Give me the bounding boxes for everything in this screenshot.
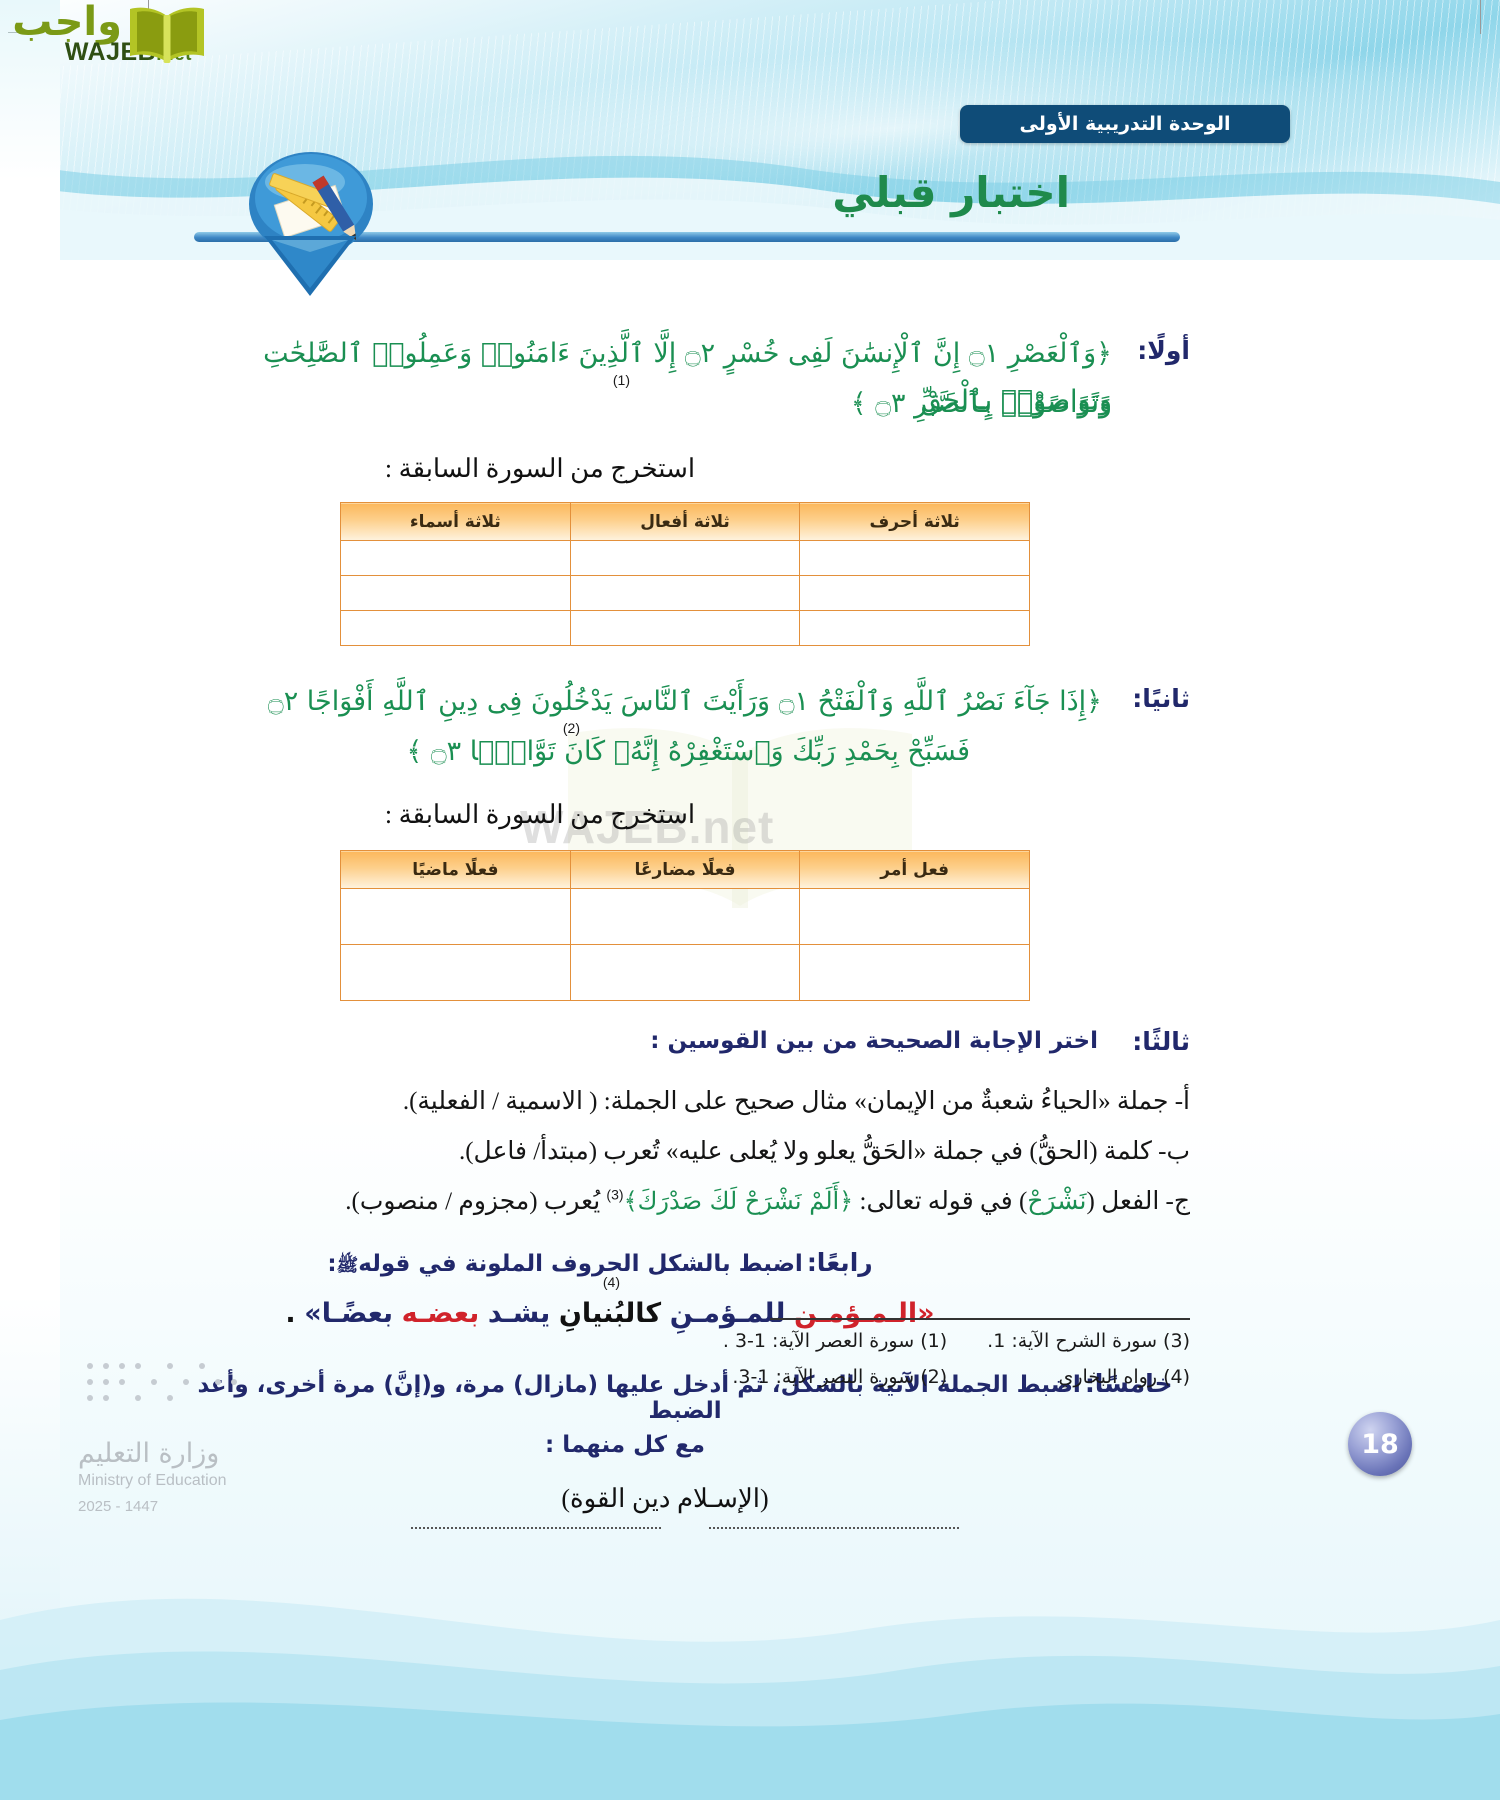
footnote-column-left: (3) سورة الشرح الآية: 1. (4) رواه البخار… [987,1330,1190,1388]
hadith-part-6: بعضًـا» [304,1298,393,1329]
crop-mark-right [1480,0,1481,34]
section-third-label: ثالثًا: [1132,1027,1190,1056]
table-row[interactable] [341,945,1030,1001]
table-cell[interactable] [570,945,800,1001]
footnote-item: (3) سورة الشرح الآية: 1. [987,1330,1190,1352]
mcq-text-a: الفعل ( [1087,1188,1160,1215]
page-root: WAJEB.net واجب WAJEB.net الوحدة التدريبي… [0,0,1500,1800]
footnote-item: (1) سورة العصر الآية: 1-3 . [723,1330,947,1352]
mcq-quran-verse: ﴿أَلَمْ نَشْرَحْ لَكَ صَدْرَكَ﴾ [624,1187,854,1215]
table-header-cell: فعلًا مضارعًا [570,851,800,889]
mcq-text: جملة «الحياءُ شعبةٌ من الإيمان» مثال صحي… [403,1088,1169,1115]
ministry-dot-pattern-icon [84,1358,254,1418]
table-cell[interactable] [341,889,571,945]
section-fourth-heading: رابعًا: اضبط بالشكل الحروف الملونة في قو… [180,1248,1190,1284]
ministry-year: 2025 - 1447 [78,1498,158,1515]
table-cell[interactable] [341,611,571,646]
answer-blank-right[interactable] [411,1527,661,1529]
mcq-footnote-ref: (3) [606,1186,623,1202]
section-second: ثانيًا: ﴿إِذَا جَآءَ نَصْرُ ٱللَّهِ وَٱل… [180,678,1190,798]
footnote-divider [770,1318,1190,1320]
mcq-text-c: يُعرب (مجزوم / منصوب). [345,1188,600,1215]
table-row[interactable] [341,541,1030,576]
section-second-instruction: استخرج من السورة السابقة : [180,800,1190,830]
answer-blank-left[interactable] [709,1527,959,1529]
section-second-verse-line2: فَسَبِّحْ بِحَمْدِ رَبِّكَ وَٱسْتَغْفِرْ… [406,728,970,775]
section-fourth-label: رابعًا: [807,1248,873,1277]
table-row[interactable] [341,576,1030,611]
table-cell[interactable] [341,541,571,576]
page-number: 18 [1348,1412,1412,1476]
mcq-text: كلمة (الحقُّ) في جملة «الحَقُّ يعلو ولا … [459,1138,1152,1165]
page-title: اختبار قبلي [832,168,1070,217]
ministry-name-english: Ministry of Education [78,1472,227,1490]
mcq-item-c: ج- الفعل (نَشْرَحْ) في قوله تعالى: ﴿أَلَ… [180,1185,1190,1219]
mcq-marker: ب- [1158,1138,1190,1165]
section-second-verse-line1: ﴿إِذَا جَآءَ نَصْرُ ٱللَّهِ وَٱلْفَتْحُ … [180,678,1102,725]
section-first-verse-line2: وَتَوَاصَوْا۟ بِٱلصَّبْرِ ۝٣ ﴾ [851,380,1112,427]
mcq-marker: أ- [1175,1088,1190,1115]
honorific-glyph: ﷺ [337,1255,359,1276]
section-fifth: خامسًا: اضبط الجملة الآتية بالشكل، ثم أد… [180,1369,1190,1536]
table-nouns-verbs-letters: ثلاثة أحرف ثلاثة أفعال ثلاثة أسماء [340,502,1030,646]
table-row[interactable] [341,611,1030,646]
table-cell[interactable] [570,611,800,646]
hadith-part-7: . [285,1298,295,1329]
footnote-column-right: (1) سورة العصر الآية: 1-3 . (2) سورة الن… [723,1330,947,1388]
table-row[interactable] [341,889,1030,945]
mcq-text-b: ) في قوله تعالى: [860,1188,1028,1215]
ministry-name-arabic: وزارة التعليم [78,1438,219,1469]
section-first-footnote-ref: (1) [613,372,630,388]
triangle-pointer-icon [260,230,360,300]
footnotes-block: (3) سورة الشرح الآية: 1. (4) رواه البخار… [590,1318,1190,1388]
page-title-block: اختبار قبلي [180,160,1190,280]
unit-badge: الوحدة التدريبية الأولى [960,105,1290,143]
section-first-label: أولًا: [1137,336,1190,365]
table-cell[interactable] [341,576,571,611]
section-first-instruction: استخرج من السورة السابقة : [180,454,1190,484]
open-book-icon [126,4,208,66]
section-second-label: ثانيًا: [1132,684,1190,713]
table-verb-types: فعل أمر فعلًا مضارعًا فعلًا ماضيًا [340,850,1030,1001]
hadith-part-5: بعضـه [402,1298,480,1329]
section-fifth-sentence: (الإسـلام دين القوة) [561,1484,768,1513]
table-cell[interactable] [341,945,571,1001]
footnote-item: (4) رواه البخاري [987,1366,1190,1388]
mcq-marker: ج- [1166,1188,1190,1215]
answer-blank-row[interactable] [180,1518,1190,1536]
section-fourth-footnote-ref: (4) [603,1274,620,1290]
table-header-cell: ثلاثة أحرف [800,503,1030,541]
table-cell[interactable] [800,541,1030,576]
mcq-verb-token: نَشْرَحْ [1027,1188,1086,1215]
site-logo[interactable]: واجب WAJEB.net [8,4,208,66]
section-fourth-instruction: اضبط بالشكل الحروف الملونة في قوله [358,1251,803,1277]
table-cell[interactable] [570,541,800,576]
table-header-cell: فعل أمر [800,851,1030,889]
hadith-part-4: يشـد [488,1298,550,1329]
table-cell[interactable] [570,576,800,611]
section-first: أولًا: ﴿وَٱلْعَصْرِ ۝١ إِنَّ ٱلْإِنسَٰنَ… [180,330,1190,450]
table-header-cell: فعلًا ماضيًا [341,851,571,889]
table-header-row: فعل أمر فعلًا مضارعًا فعلًا ماضيًا [341,851,1030,889]
table-cell[interactable] [800,611,1030,646]
section-third-heading: ثالثًا: اختر الإجابة الصحيحة من بين القو… [180,1027,1190,1061]
mcq-item-b: ب- كلمة (الحقُّ) في جملة «الحَقُّ يعلو و… [180,1135,1190,1169]
table-cell[interactable] [800,576,1030,611]
table-header-cell: ثلاثة أفعال [570,503,800,541]
footnote-item: (2) سورة النصر الآية: 1-3. [723,1366,947,1388]
section-second-footnote-ref: (2) [563,720,580,736]
table-header-cell: ثلاثة أسماء [341,503,571,541]
section-fifth-instruction-2: مع كل منهما : [545,1432,705,1458]
mcq-item-a: أ- جملة «الحياءُ شعبةٌ من الإيمان» مثال … [180,1085,1190,1119]
table-cell[interactable] [800,889,1030,945]
logo-arabic-text: واجب [12,2,122,42]
section-third-instruction: اختر الإجابة الصحيحة من بين القوسين : [650,1028,1098,1054]
table-cell[interactable] [800,945,1030,1001]
table-header-row: ثلاثة أحرف ثلاثة أفعال ثلاثة أسماء [341,503,1030,541]
section-fourth-colon: : [327,1251,336,1277]
table-cell[interactable] [570,889,800,945]
